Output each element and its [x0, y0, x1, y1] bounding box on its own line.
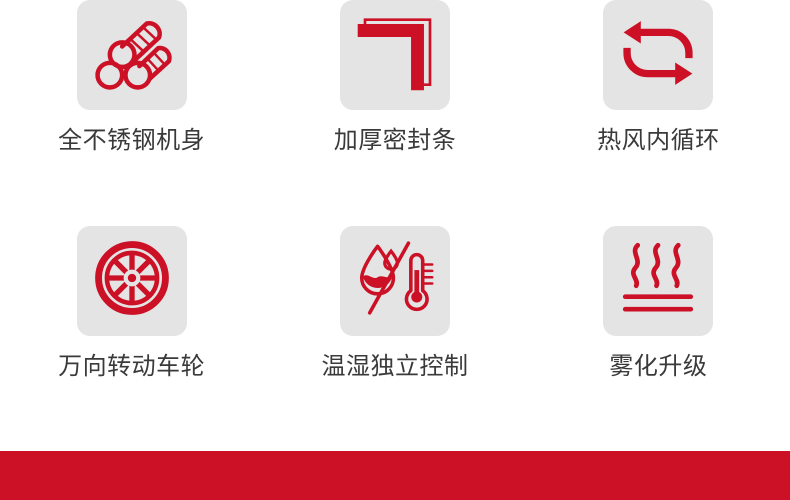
stainless-steel-tubes-icon [91, 12, 173, 99]
feature-label: 加厚密封条 [334, 129, 457, 153]
feature-label: 温湿独立控制 [321, 355, 468, 379]
bottom-accent-bar [0, 451, 790, 500]
feature-label: 热风内循环 [597, 129, 720, 153]
icon-tile [77, 0, 187, 110]
feature-label: 全不锈钢机身 [58, 129, 205, 153]
feature-item-stainless-steel[interactable]: 全不锈钢机身 [0, 0, 263, 226]
icon-tile [77, 226, 187, 336]
feature-grid: 全不锈钢机身 加厚密封条 [0, 0, 790, 451]
atomization-steam-icon [619, 238, 697, 323]
temperature-humidity-icon [355, 240, 435, 321]
swivel-wheel-icon [94, 240, 170, 321]
icon-tile [340, 226, 450, 336]
feature-item-swivel-wheel[interactable]: 万向转动车轮 [0, 226, 263, 452]
feature-item-atomization-upgrade[interactable]: 雾化升级 [527, 226, 790, 452]
feature-label: 万向转动车轮 [58, 355, 205, 379]
feature-item-temp-humidity-control[interactable]: 温湿独立控制 [263, 226, 526, 452]
icon-tile [603, 0, 713, 110]
feature-label: 雾化升级 [609, 355, 707, 379]
corner-seal-strip-icon [353, 13, 437, 98]
feature-item-hot-air-circulation[interactable]: 热风内循环 [527, 0, 790, 226]
icon-tile [603, 226, 713, 336]
hot-air-circulation-icon [615, 18, 701, 93]
feature-item-seal-strip[interactable]: 加厚密封条 [263, 0, 526, 226]
icon-tile [340, 0, 450, 110]
